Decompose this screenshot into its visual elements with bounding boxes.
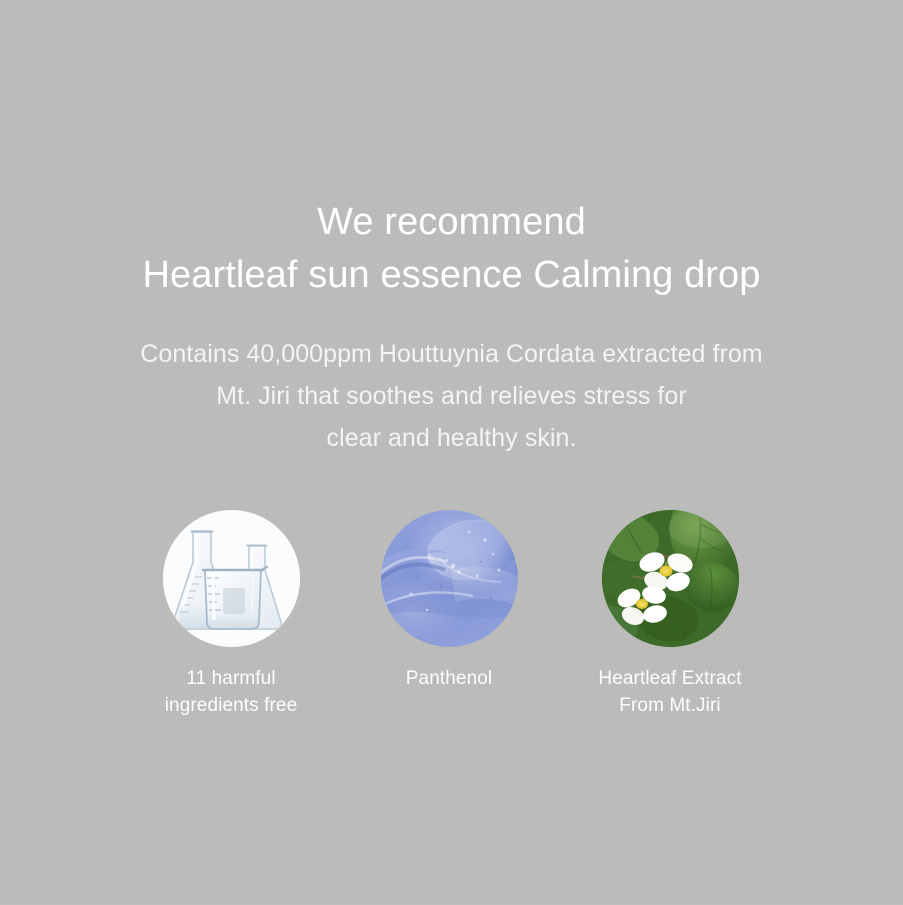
feature-list: 11 harmful ingredients free: [0, 510, 903, 740]
description-line-2: Mt. Jiri that soothes and relieves stres…: [0, 375, 903, 417]
product-description: Contains 40,000ppm Houttuynia Cordata ex…: [0, 333, 903, 459]
blue-cream-texture-icon: [381, 510, 518, 647]
feature-caption: Panthenol: [349, 665, 549, 692]
feature-caption: Heartleaf Extract From Mt.Jiri: [570, 665, 770, 719]
feature-caption-line-1: Panthenol: [349, 665, 549, 692]
description-line-3: clear and healthy skin.: [0, 417, 903, 459]
feature-caption: 11 harmful ingredients free: [131, 665, 331, 719]
heartleaf-plant-icon: [602, 510, 739, 647]
feature-item-panthenol: Panthenol: [349, 510, 549, 692]
feature-caption-line-1: 11 harmful: [131, 665, 331, 692]
feature-caption-line-2: ingredients free: [131, 692, 331, 719]
product-detail-panel: We recommend Heartleaf sun essence Calmi…: [0, 0, 903, 905]
lab-glassware-icon: [163, 510, 300, 647]
feature-caption-line-1: Heartleaf Extract: [570, 665, 770, 692]
feature-caption-line-2: From Mt.Jiri: [570, 692, 770, 719]
feature-item-heartleaf-extract: Heartleaf Extract From Mt.Jiri: [570, 510, 770, 719]
feature-item-harmful-ingredients-free: 11 harmful ingredients free: [131, 510, 331, 719]
page-title: We recommend Heartleaf sun essence Calmi…: [0, 196, 903, 302]
headline-line-1: We recommend: [0, 196, 903, 249]
description-line-1: Contains 40,000ppm Houttuynia Cordata ex…: [0, 333, 903, 375]
headline-line-2: Heartleaf sun essence Calming drop: [0, 249, 903, 302]
